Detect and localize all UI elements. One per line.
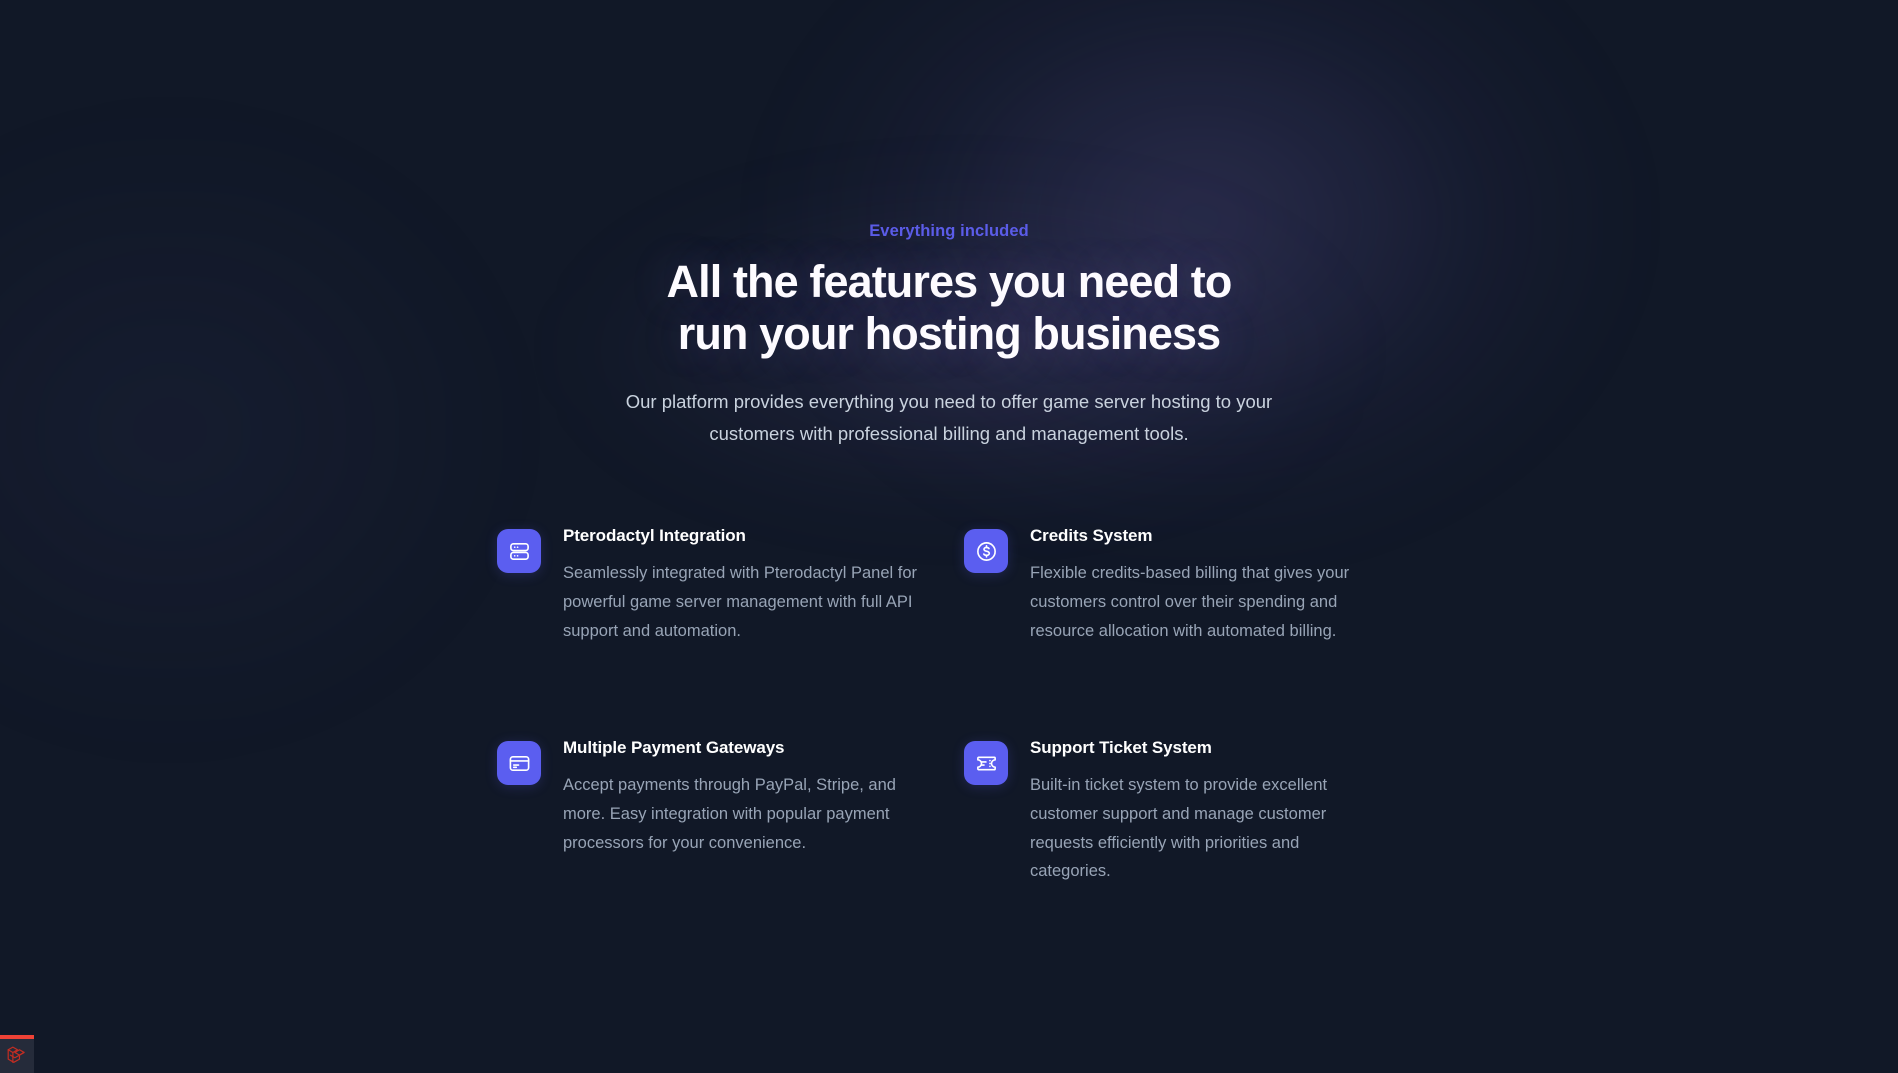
feature-text: Credits System Flexible credits-based bi…	[1030, 525, 1363, 645]
feature-description: Built-in ticket system to provide excell…	[1030, 771, 1363, 886]
headline-line-2: run your hosting business	[678, 308, 1221, 359]
feature-text: Multiple Payment Gateways Accept payment…	[563, 737, 930, 857]
feature-description: Seamlessly integrated with Pterodactyl P…	[563, 559, 930, 645]
feature-card-support-ticket-system: Support Ticket System Built-in ticket sy…	[964, 737, 1397, 886]
feature-card-credits-system: Credits System Flexible credits-based bi…	[964, 525, 1397, 645]
feature-description: Flexible credits-based billing that give…	[1030, 559, 1363, 645]
server-database-icon	[508, 540, 531, 563]
feature-description: Accept payments through PayPal, Stripe, …	[563, 771, 930, 857]
credit-card-icon	[508, 752, 531, 775]
feature-title: Support Ticket System	[1030, 737, 1363, 759]
feature-card-pterodactyl-integration: Pterodactyl Integration Seamlessly integ…	[497, 525, 964, 645]
headline-line-1: All the features you need to	[667, 256, 1232, 307]
laravel-logo-icon	[6, 1045, 28, 1067]
feature-icon-tile	[964, 529, 1008, 573]
feature-card-multiple-payment-gateways: Multiple Payment Gateways Accept payment…	[497, 737, 964, 886]
section-eyebrow: Everything included	[0, 222, 1898, 242]
section-subheadline: Our platform provides everything you nee…	[609, 386, 1289, 450]
feature-title: Pterodactyl Integration	[563, 525, 930, 547]
page-title: All the features you need to run your ho…	[0, 256, 1898, 360]
feature-title: Multiple Payment Gateways	[563, 737, 930, 759]
feature-title: Credits System	[1030, 525, 1363, 547]
feature-icon-tile	[497, 741, 541, 785]
feature-text: Support Ticket System Built-in ticket sy…	[1030, 737, 1363, 886]
feature-icon-tile	[964, 741, 1008, 785]
laravel-debugbar-tab[interactable]	[0, 1035, 34, 1073]
section-header: Everything included All the features you…	[0, 222, 1898, 450]
ticket-icon	[975, 752, 998, 775]
feature-icon-tile	[497, 529, 541, 573]
dollar-circle-icon	[975, 540, 998, 563]
feature-grid: Pterodactyl Integration Seamlessly integ…	[497, 525, 1397, 886]
features-page: Everything included All the features you…	[0, 0, 1898, 1073]
feature-text: Pterodactyl Integration Seamlessly integ…	[563, 525, 930, 645]
